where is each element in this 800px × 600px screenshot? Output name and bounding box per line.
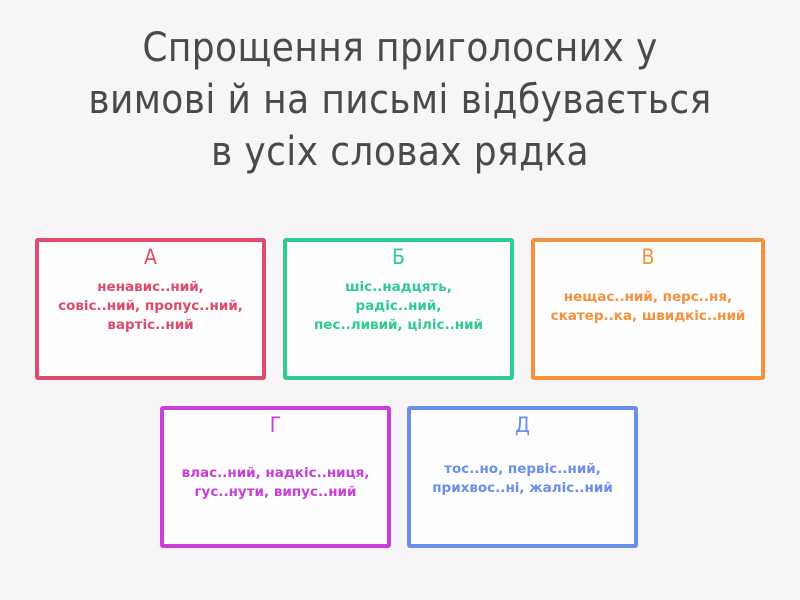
answer-body-v: нещас..ний, перс..ня, скатер..ка, швидкі… bbox=[535, 270, 761, 376]
answer-option-b[interactable]: Б шіс..надцять, радіс..ний, пес..ливий, … bbox=[283, 238, 514, 380]
answer-letter-d: Д bbox=[515, 412, 530, 438]
answer-letter-v: В bbox=[642, 244, 655, 270]
answer-option-d[interactable]: Д тос..но, первіс..ний, прихвос..ні, жал… bbox=[407, 406, 638, 548]
answer-option-a[interactable]: А ненавис..ний, совіс..ний, пропус..ний,… bbox=[35, 238, 266, 380]
answer-body-b: шіс..надцять, радіс..ний, пес..ливий, ці… bbox=[287, 270, 510, 376]
answer-text-a: ненавис..ний, совіс..ний, пропус..ний, в… bbox=[58, 278, 243, 335]
answer-option-v[interactable]: В нещас..ний, перс..ня, скатер..ка, швид… bbox=[531, 238, 765, 380]
answer-text-d: тос..но, первіс..ний, прихвос..ні, жаліс… bbox=[432, 460, 613, 498]
answer-text-b: шіс..надцять, радіс..ний, пес..ливий, ці… bbox=[314, 278, 483, 335]
answer-letter-g: Г bbox=[270, 412, 282, 438]
answer-body-g: влас..ний, надкіс..ниця, гус..нути, випу… bbox=[164, 438, 387, 544]
answer-body-d: тос..но, первіс..ний, прихвос..ні, жаліс… bbox=[411, 438, 634, 544]
answer-option-g[interactable]: Г влас..ний, надкіс..ниця, гус..нути, ви… bbox=[160, 406, 391, 548]
question-title: Спрощення приголосних у вимові й на пись… bbox=[0, 22, 800, 178]
answer-letter-b: Б bbox=[392, 244, 405, 270]
answer-body-a: ненавис..ний, совіс..ний, пропус..ний, в… bbox=[39, 270, 262, 376]
answer-letter-a: А bbox=[144, 244, 157, 270]
answer-text-g: влас..ний, надкіс..ниця, гус..нути, випу… bbox=[182, 464, 370, 502]
answer-text-v: нещас..ний, перс..ня, скатер..ка, швидкі… bbox=[551, 288, 746, 326]
quiz-slide: Спрощення приголосних у вимові й на пись… bbox=[0, 0, 800, 600]
